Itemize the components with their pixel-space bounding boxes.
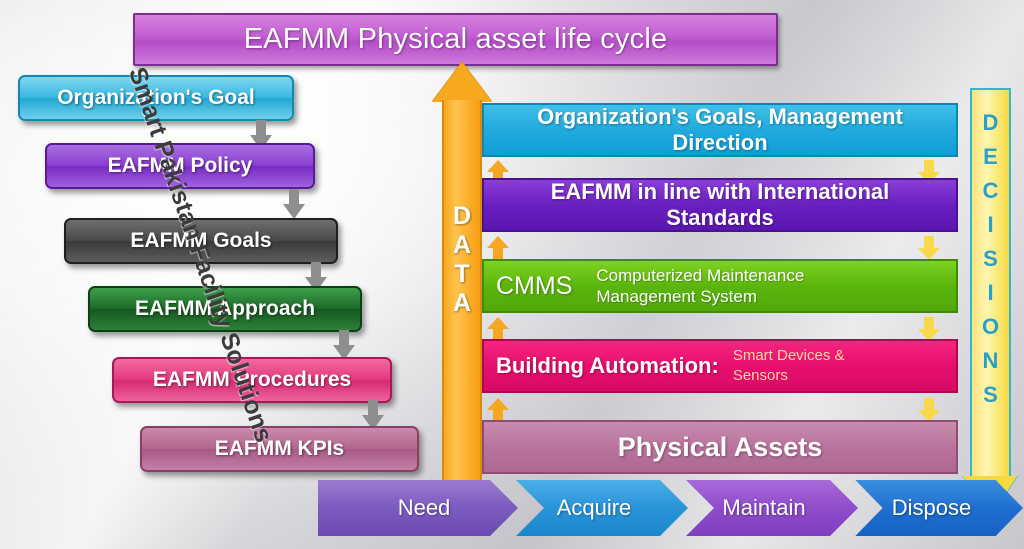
decisions-letter: C bbox=[983, 174, 999, 208]
stack-bar-eafmm-standards[interactable]: EAFMM in line with International Standar… bbox=[482, 178, 958, 232]
down-arrow-icon bbox=[283, 189, 305, 219]
stack-bar-sublabel-line1: Computerized Maintenance bbox=[596, 266, 804, 285]
stack-bar-sublabel-line1: Smart Devices & bbox=[733, 347, 845, 364]
decisions-letter: D bbox=[983, 106, 999, 140]
decisions-letter: E bbox=[983, 140, 998, 174]
down-arrow-icon bbox=[918, 317, 940, 341]
decisions-letter: I bbox=[987, 208, 993, 242]
data-letter: A bbox=[453, 231, 471, 260]
lifecycle-stage-label: Maintain bbox=[722, 495, 805, 521]
up-arrow-icon bbox=[487, 398, 509, 422]
stack-bar-sublabel: Smart Devices & Sensors bbox=[733, 346, 845, 386]
down-arrow-icon bbox=[918, 236, 940, 260]
stack-bar-physical-assets[interactable]: Physical Assets bbox=[482, 420, 958, 474]
lifecycle-stage-label: Acquire bbox=[557, 495, 632, 521]
lifecycle-stage-need[interactable]: Need bbox=[318, 480, 518, 536]
lifecycle-stage-acquire[interactable]: Acquire bbox=[488, 480, 688, 536]
ladder-item-label: EAFMM Goals bbox=[130, 229, 271, 253]
decisions-letter: O bbox=[982, 310, 999, 344]
ladder-item-label: EAFMM Procedures bbox=[153, 368, 351, 392]
ladder-item-eafmm-approach[interactable]: EAFMM Approach bbox=[88, 286, 362, 332]
ladder-item-organizations-goal[interactable]: Organization's Goal bbox=[18, 75, 294, 121]
stack-bar-sublabel-line2: Sensors bbox=[733, 367, 788, 384]
decisions-letter: S bbox=[983, 242, 998, 276]
stack-bar-cmms[interactable]: CMMS Computerized Maintenance Management… bbox=[482, 259, 958, 313]
ladder-item-label: Organization's Goal bbox=[57, 86, 255, 110]
data-letter: T bbox=[454, 260, 469, 289]
ladder-item-label: EAFMM KPIs bbox=[215, 437, 345, 461]
stack-bar-label: Building Automation: bbox=[496, 353, 719, 379]
data-letter: A bbox=[453, 289, 471, 318]
stack-bar-sublabel: Computerized Maintenance Management Syst… bbox=[596, 265, 804, 307]
lifecycle-stage-label: Dispose bbox=[892, 495, 971, 521]
decisions-arrow-letters: D E C I S I O N S bbox=[963, 106, 1018, 412]
lifecycle-stage-maintain[interactable]: Maintain bbox=[658, 480, 858, 536]
decisions-letter: S bbox=[983, 378, 998, 412]
diagram-canvas: EAFMM Physical asset life cycle Organiza… bbox=[0, 0, 1024, 549]
decisions-letter: I bbox=[987, 276, 993, 310]
stack-bar-label: CMMS bbox=[496, 272, 572, 301]
stack-bar-label: Physical Assets bbox=[484, 432, 956, 463]
ladder-item-eafmm-procedures[interactable]: EAFMM Procedures bbox=[112, 357, 392, 403]
decisions-arrow: D E C I S I O N S bbox=[963, 88, 1018, 518]
page-title: EAFMM Physical asset life cycle bbox=[133, 13, 778, 66]
ladder-item-label: EAFMM Approach bbox=[135, 297, 315, 321]
arrow-up-icon bbox=[432, 62, 492, 102]
ladder-item-eafmm-goals[interactable]: EAFMM Goals bbox=[64, 218, 338, 264]
up-arrow-icon bbox=[487, 317, 509, 341]
ladder-item-label: EAFMM Policy bbox=[108, 154, 253, 178]
lifecycle-stage-label: Need bbox=[398, 495, 451, 521]
stack-bar-sublabel-line2: Management System bbox=[596, 287, 757, 306]
down-arrow-icon bbox=[333, 330, 355, 360]
stack-bar-organizational-goals[interactable]: Organization's Goals, Management Directi… bbox=[482, 103, 958, 157]
stack-bar-label: Organization's Goals, Management Directi… bbox=[484, 104, 956, 156]
down-arrow-icon bbox=[918, 398, 940, 422]
ladder-item-eafmm-kpis[interactable]: EAFMM KPIs bbox=[140, 426, 419, 472]
up-arrow-icon bbox=[487, 236, 509, 260]
stack-bar-label: EAFMM in line with International Standar… bbox=[484, 179, 956, 231]
data-letter: D bbox=[453, 202, 471, 231]
page-title-text: EAFMM Physical asset life cycle bbox=[244, 23, 668, 56]
stack-bar-building-automation[interactable]: Building Automation: Smart Devices & Sen… bbox=[482, 339, 958, 393]
decisions-letter: N bbox=[983, 344, 999, 378]
ladder-item-eafmm-policy[interactable]: EAFMM Policy bbox=[45, 143, 315, 189]
